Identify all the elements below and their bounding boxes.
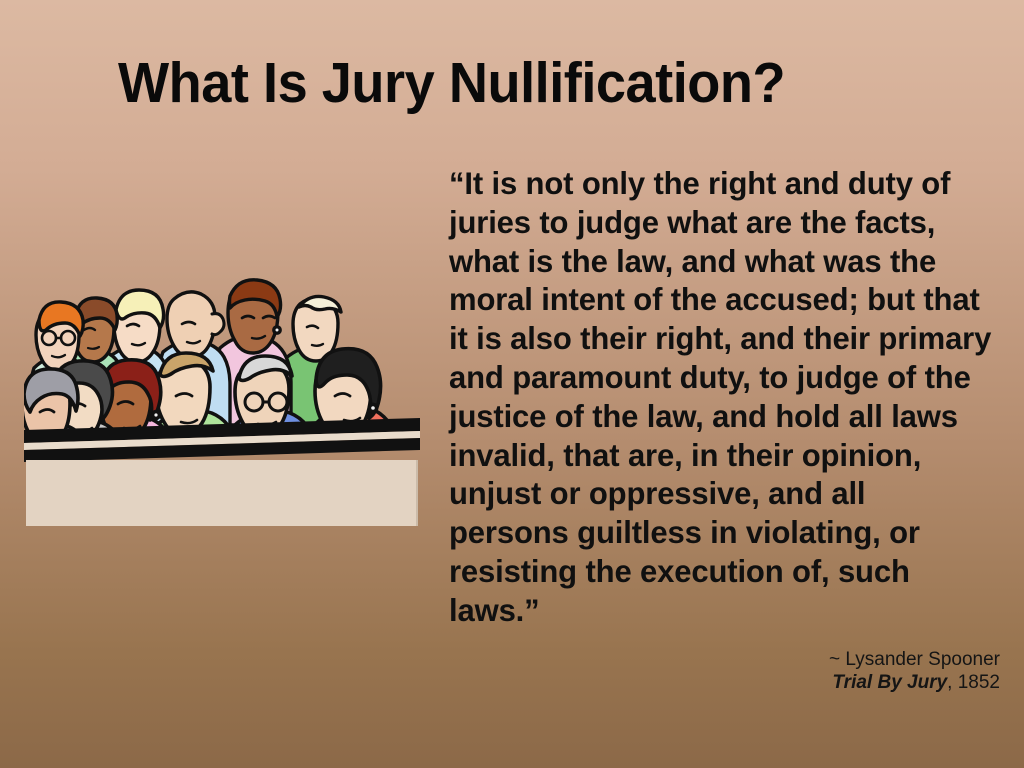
attribution-work-title: Trial By Jury	[832, 672, 947, 693]
attribution-work-year: , 1852	[947, 672, 1000, 693]
attribution-author: ~ Lysander Spooner	[829, 648, 1000, 671]
slide-canvas: What Is Jury Nullification?	[0, 0, 1024, 768]
quote-block: “It is not only the right and duty of ju…	[449, 164, 1001, 630]
attribution: ~ Lysander Spooner Trial By Jury, 1852	[829, 648, 1000, 694]
jury-box-panel	[24, 418, 420, 526]
page-title: What Is Jury Nullification?	[118, 52, 878, 115]
attribution-source: Trial By Jury, 1852	[829, 671, 1000, 694]
jury-box-illustration	[24, 252, 420, 526]
quote-text: “It is not only the right and duty of ju…	[449, 164, 993, 630]
